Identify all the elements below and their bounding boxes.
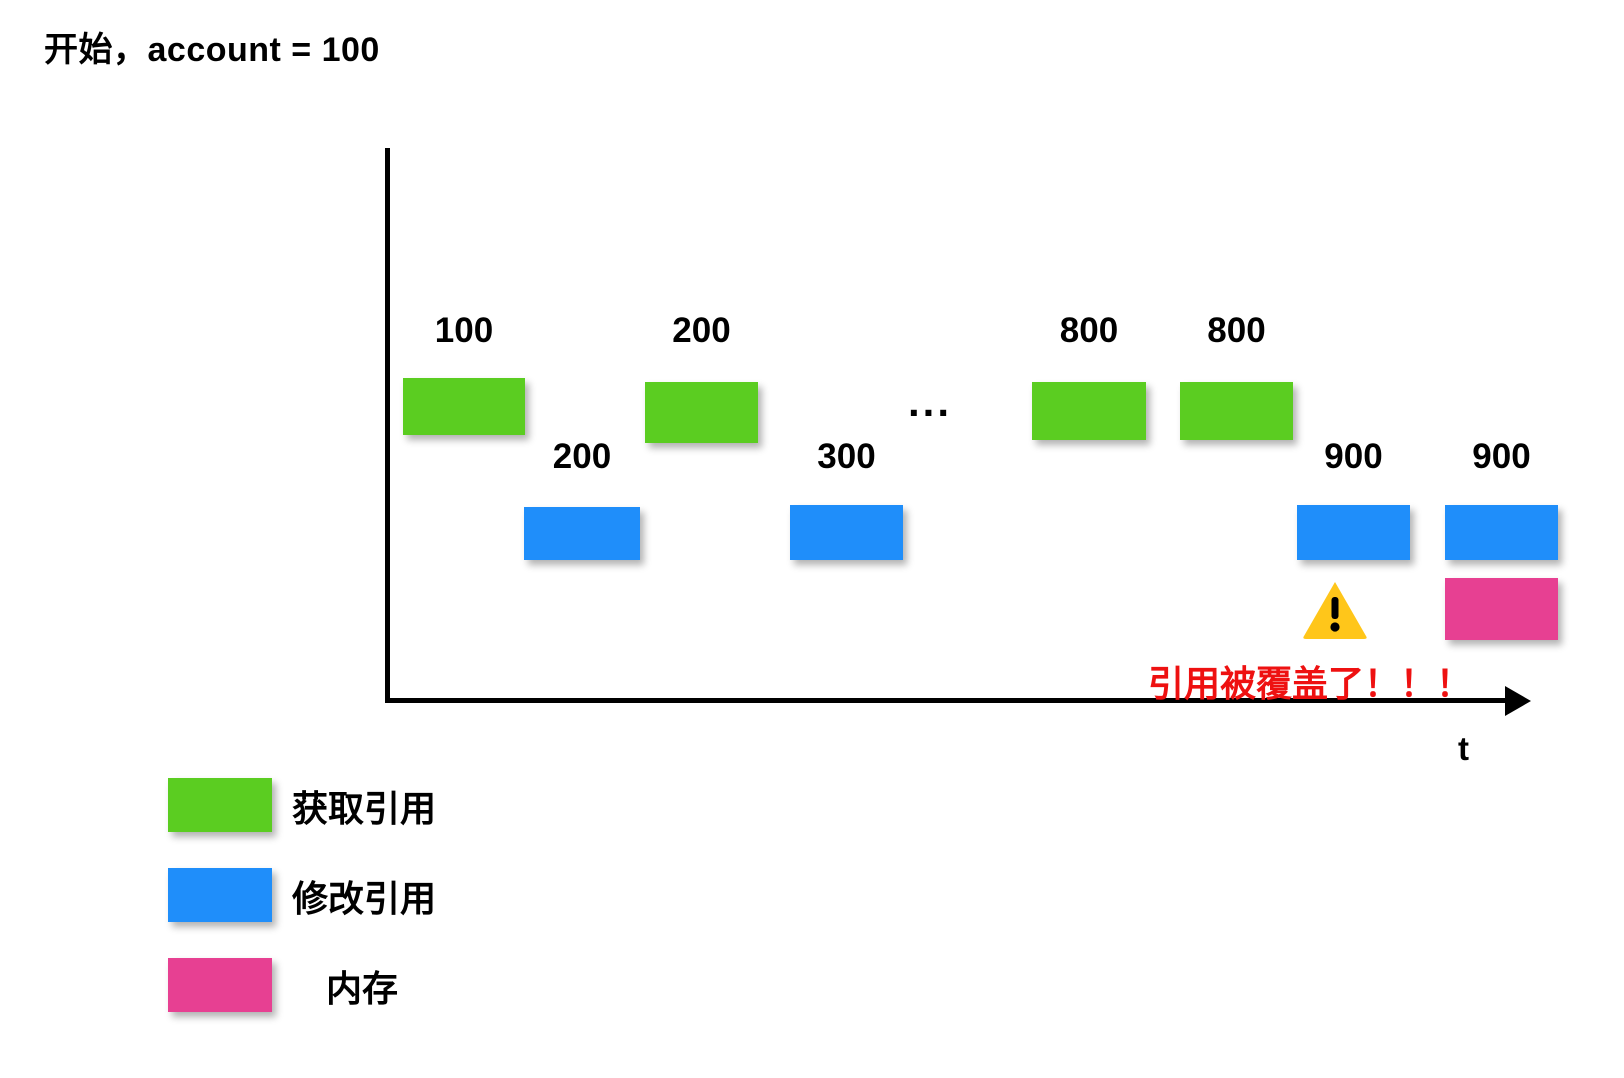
event-box (1180, 382, 1293, 440)
legend-swatch (168, 868, 272, 922)
event-box-label: 900 (1445, 437, 1558, 477)
event-box-label: 800 (1032, 311, 1146, 351)
event-box-label: 200 (524, 437, 640, 477)
event-box (645, 382, 758, 443)
y-axis (385, 148, 390, 703)
event-box-label: 200 (645, 311, 758, 351)
legend-swatch (168, 778, 272, 832)
event-box (790, 505, 903, 560)
event-box-label: 900 (1297, 437, 1410, 477)
event-box (1032, 382, 1146, 440)
warning-message: 引用被覆盖了！！！ (1148, 655, 1472, 707)
x-axis-arrow-icon (1505, 686, 1531, 716)
x-axis-label: t (1458, 730, 1469, 768)
legend-swatch (168, 958, 272, 1012)
legend-label: 获取引用 (292, 780, 436, 832)
diagram-canvas: 开始，account = 100 t 100200800800200300900… (0, 0, 1624, 1078)
event-box (1445, 578, 1558, 640)
event-box (524, 507, 640, 560)
ellipsis-marker: ... (908, 378, 952, 426)
legend-label: 修改引用 (292, 870, 436, 922)
event-box (403, 378, 525, 435)
legend-label: 内存 (326, 960, 398, 1012)
event-box (1445, 505, 1558, 560)
event-box (1297, 505, 1410, 560)
page-title: 开始，account = 100 (44, 22, 380, 71)
event-box-label: 100 (403, 311, 525, 351)
event-box-label: 300 (790, 437, 903, 477)
warning-triangle-icon (1302, 580, 1368, 640)
event-box-label: 800 (1180, 311, 1293, 351)
